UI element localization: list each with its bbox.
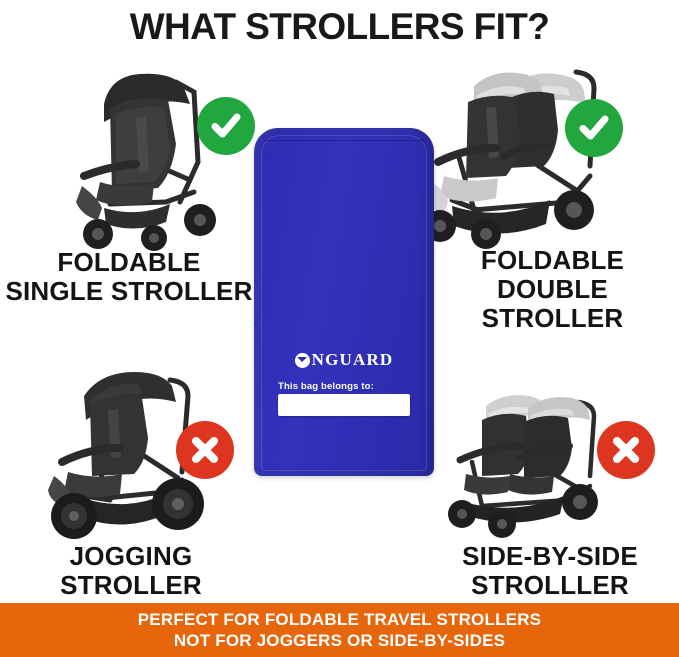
- x-circle-icon: [185, 430, 225, 470]
- brand-logo: NGUARD: [254, 350, 434, 370]
- label-line: STROLLER: [430, 304, 675, 333]
- badge-side-by-side: [597, 421, 655, 479]
- onguard-o-shield-icon: [295, 353, 310, 368]
- label-line: FOLDABLE: [0, 248, 258, 277]
- badge-jogging: [176, 421, 234, 479]
- x-circle-icon: [606, 430, 646, 470]
- label-foldable-double: FOLDABLE DOUBLE STROLLER: [430, 246, 675, 333]
- label-line: JOGGING: [6, 542, 256, 571]
- brand-name: NGUARD: [312, 350, 394, 370]
- label-jogging: JOGGING STROLLER: [6, 542, 256, 600]
- bag-belongs-label: This bag belongs to:: [278, 381, 374, 392]
- label-line: STROLLER: [6, 571, 256, 600]
- label-line: FOLDABLE: [430, 246, 675, 275]
- page-title: WHAT STROLLERS FIT?: [0, 4, 679, 50]
- side-by-side-stroller-icon: [432, 390, 632, 548]
- banner-line-2: NOT FOR JOGGERS OR SIDE-BY-SIDES: [174, 630, 505, 651]
- label-line: SIDE-BY-SIDE: [424, 542, 676, 571]
- badge-foldable-single: [197, 97, 255, 155]
- label-line: STROLLLER: [424, 571, 676, 600]
- label-line: DOUBLE: [430, 275, 675, 304]
- label-foldable-single: FOLDABLE SINGLE STROLLER: [0, 248, 258, 306]
- banner-line-1: PERFECT FOR FOLDABLE TRAVEL STROLLERS: [138, 609, 541, 630]
- check-circle-icon: [206, 106, 246, 146]
- travel-bag: NGUARD This bag belongs to:: [254, 128, 434, 476]
- label-side-by-side: SIDE-BY-SIDE STROLLLER: [424, 542, 676, 600]
- label-line: SINGLE STROLLER: [0, 277, 258, 306]
- bottom-banner: PERFECT FOR FOLDABLE TRAVEL STROLLERS NO…: [0, 603, 679, 657]
- bag-side-handle: [254, 280, 258, 326]
- check-circle-icon: [574, 108, 614, 148]
- bag-nameplate-field[interactable]: [278, 394, 410, 416]
- bag-top-seam: [264, 140, 424, 141]
- badge-foldable-double: [565, 99, 623, 157]
- product-image-side-by-side: [432, 390, 632, 548]
